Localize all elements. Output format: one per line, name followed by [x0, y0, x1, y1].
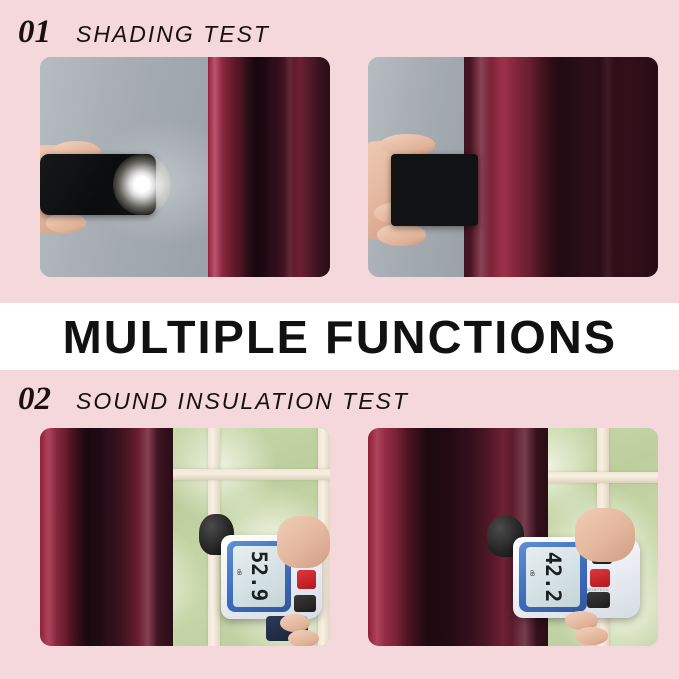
curtain-fabric — [40, 428, 173, 646]
photo-sound-closed: BENETECH 42.2 dB — [368, 428, 658, 646]
photo-shading-blocked — [368, 57, 658, 277]
photo-panel-sound-open: 52.9 dB — [40, 428, 330, 646]
meter-unit: dB — [528, 569, 534, 576]
curtain-fold-highlight-2 — [600, 57, 616, 277]
meter-lcd: 52.9 dB — [233, 546, 284, 608]
finger-middle — [575, 627, 609, 645]
meter-lcd: 42.2 dB — [526, 547, 580, 607]
section-number-02: 02 — [18, 381, 51, 418]
photo-panel-shading-light — [40, 57, 330, 277]
curtain-fold-shadow — [530, 57, 588, 277]
section-label-shading: SHADING TEST — [76, 21, 270, 48]
infographic-page: 01 SHADING TEST — [0, 0, 679, 679]
photo-sound-open: 52.9 dB — [40, 428, 330, 646]
smartphone-blocked — [391, 154, 478, 227]
curtain-fabric — [464, 57, 658, 277]
photo-panel-shading-blocked — [368, 57, 658, 277]
curtain-fold-highlight-2 — [139, 428, 158, 646]
meter-reading: 42.2 — [541, 552, 565, 603]
curtain-fold-shadow — [240, 57, 272, 277]
section-number-01: 01 — [18, 14, 51, 51]
curtain-fold-highlight-2 — [284, 57, 295, 277]
section-label-sound: SOUND INSULATION TEST — [76, 388, 409, 415]
curtain-fold-shadow — [397, 428, 458, 646]
meter-reading: 52.9 — [247, 551, 271, 602]
curtain-fold-highlight — [208, 57, 221, 277]
meter-unit: dB — [236, 569, 242, 576]
finger-index — [380, 134, 435, 156]
section-heading-shading: 01 SHADING TEST — [18, 14, 270, 51]
meter-button-record[interactable] — [297, 570, 316, 589]
curtain-fold-highlight — [43, 428, 56, 646]
sound-level-meter: BENETECH 42.2 dB — [484, 511, 652, 646]
meter-button-mode[interactable] — [587, 592, 611, 608]
curtain-fold-shadow — [67, 428, 107, 646]
section-heading-sound: 02 SOUND INSULATION TEST — [18, 381, 409, 418]
banner-multiple-functions: MULTIPLE FUNCTIONS — [0, 303, 679, 370]
meter-button-record[interactable] — [590, 569, 610, 587]
sound-level-meter: 52.9 dB — [191, 511, 330, 646]
window-mullion-horizontal — [156, 469, 330, 480]
meter-bezel: 42.2 dB — [519, 542, 586, 612]
finger-middle — [288, 630, 319, 646]
window-mullion-horizontal — [536, 472, 658, 483]
hand — [277, 516, 330, 567]
banner-title: MULTIPLE FUNCTIONS — [62, 310, 617, 364]
hand — [575, 508, 636, 562]
finger-ring — [377, 224, 426, 246]
flashlight-beam — [113, 154, 171, 216]
photo-shading-light — [40, 57, 330, 277]
photo-panel-sound-closed: BENETECH 42.2 dB — [368, 428, 658, 646]
curtain-fabric — [208, 57, 330, 277]
meter-button-mode[interactable] — [294, 595, 316, 613]
finger-ring — [46, 213, 87, 233]
curtain-fold-highlight — [370, 428, 384, 646]
